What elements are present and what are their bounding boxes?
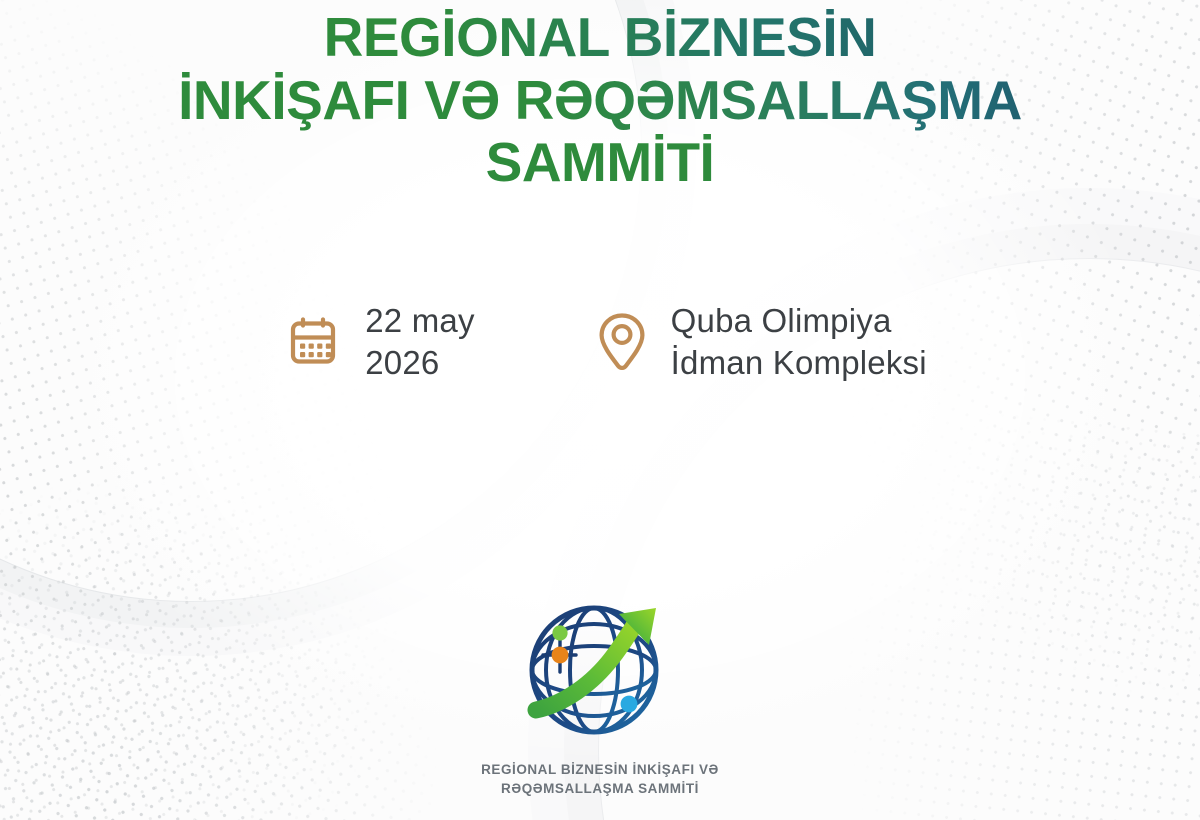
title-line-2: İNKİŞAFI VƏ RƏQƏMSALLAŞMA: [0, 69, 1200, 132]
globe-growth-arrow-logo-icon: [516, 592, 684, 752]
title-line-3: SAMMİTİ: [0, 131, 1200, 194]
event-poster: REGİONAL BİZNESİN İNKİŞAFI VƏ RƏQƏMSALLA…: [0, 0, 1200, 820]
title-line-1: REGİONAL BİZNESİN: [0, 6, 1200, 69]
calendar-icon: [287, 309, 345, 375]
event-date-text: 22 may 2026: [365, 300, 474, 383]
event-venue-text: Quba Olimpiya İdman Kompleksi: [671, 300, 927, 383]
poster-title: REGİONAL BİZNESİN İNKİŞAFI VƏ RƏQƏMSALLA…: [0, 6, 1200, 194]
logo-caption: REGİONAL BİZNESİN İNKİŞAFI VƏ RƏQƏMSALLA…: [481, 760, 719, 798]
event-logo-block: REGİONAL BİZNESİN İNKİŞAFI VƏ RƏQƏMSALLA…: [0, 592, 1200, 798]
location-pin-icon: [593, 309, 651, 375]
event-venue-item: Quba Olimpiya İdman Kompleksi: [593, 300, 927, 383]
event-date-item: 22 may 2026: [287, 300, 474, 383]
event-details-row: 22 may 2026 Quba Olimpiya İdman Kompleks…: [0, 300, 1200, 383]
